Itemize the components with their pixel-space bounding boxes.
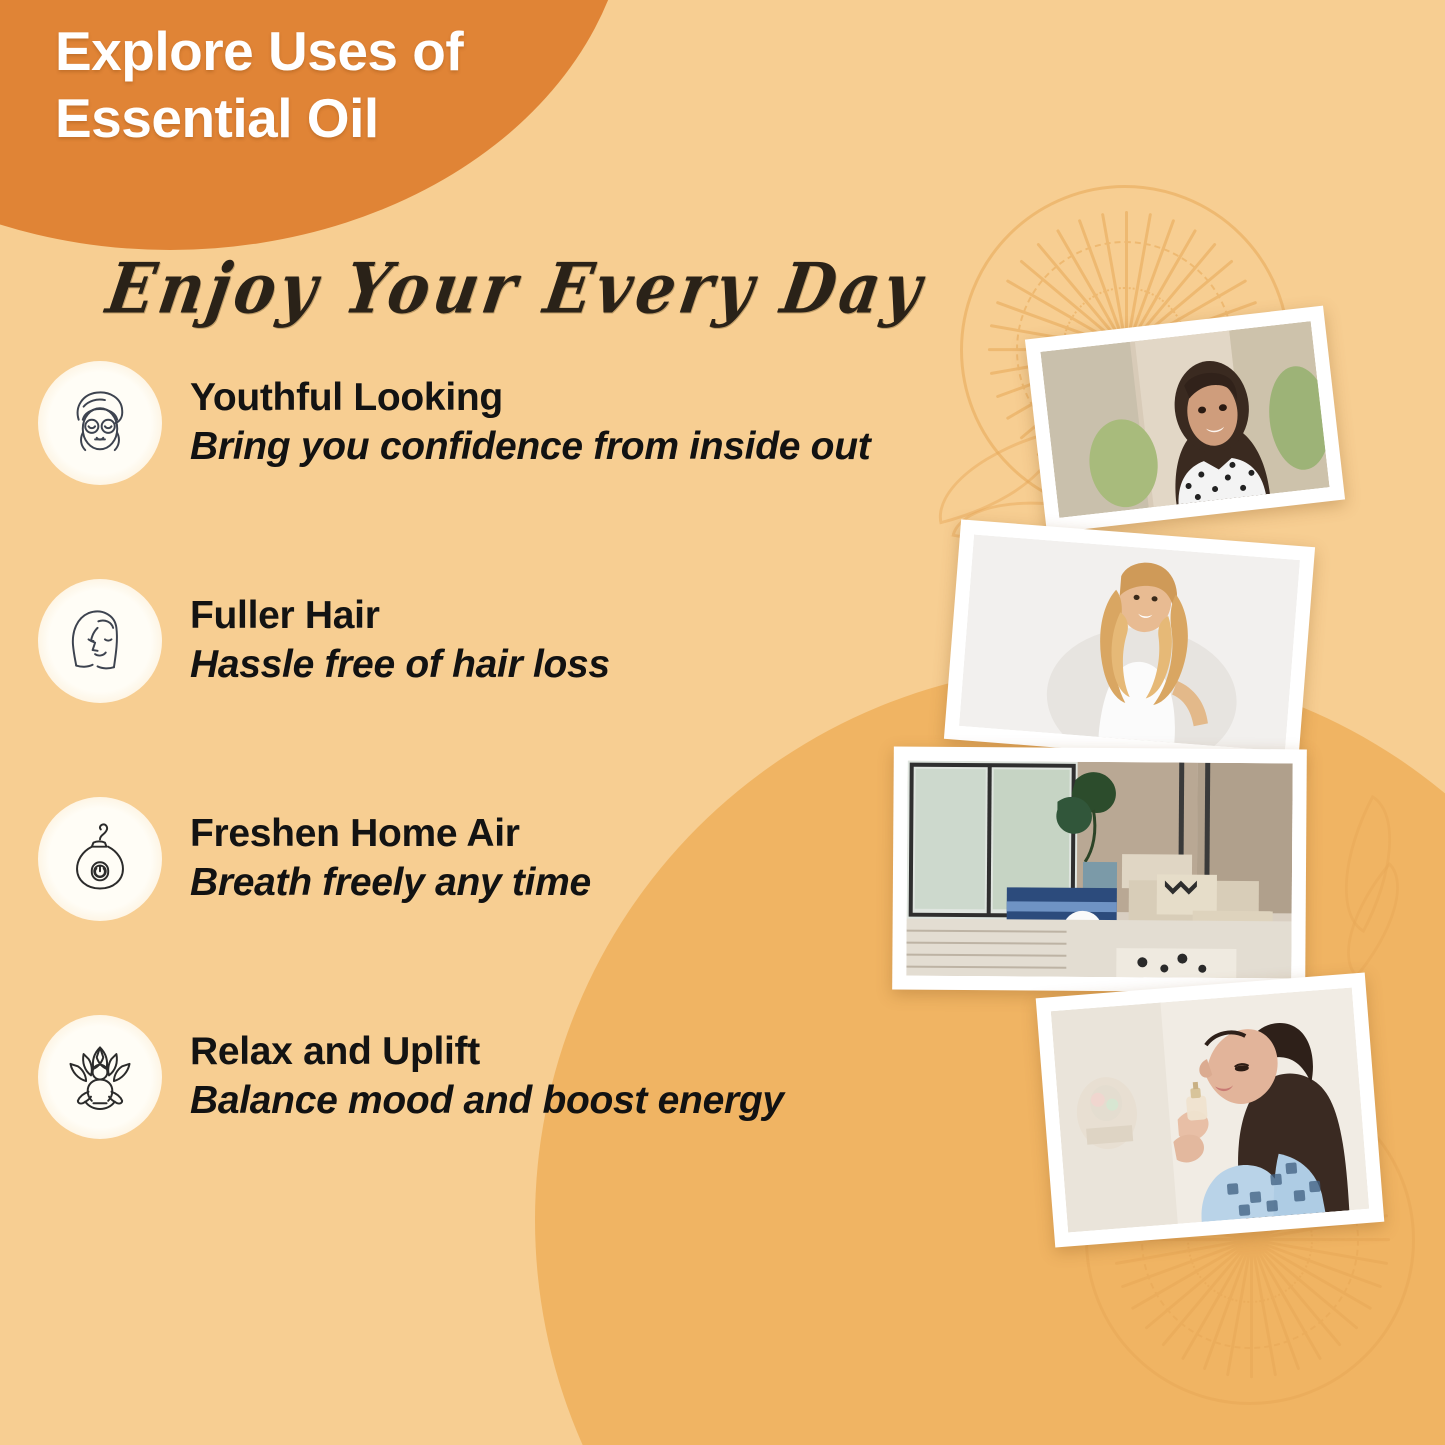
feature-title: Relax and Uplift	[190, 1029, 1040, 1075]
feature-subtitle: Bring you confidence from inside out	[190, 424, 1040, 471]
feature-subtitle: Balance mood and boost energy	[190, 1078, 1040, 1125]
photo-image	[1051, 987, 1369, 1232]
photo-blonde-wavy-hair	[944, 519, 1315, 766]
feature-item-relax-and-uplift: Relax and Uplift Balance mood and boost …	[0, 1014, 1040, 1139]
photo-image	[959, 534, 1300, 751]
long-hair-profile-icon	[38, 579, 162, 703]
feature-item-youthful-looking: Youthful Looking Bring you confidence fr…	[0, 360, 1040, 485]
feature-text: Relax and Uplift Balance mood and boost …	[190, 1029, 1040, 1125]
feature-title: Youthful Looking	[190, 375, 1040, 421]
photo-living-room-interior	[892, 747, 1307, 993]
photo-smiling-woman	[1025, 306, 1345, 534]
photo-image	[906, 761, 1292, 979]
tagline: Enjoy Your Every Day	[102, 248, 931, 330]
photo-woman-spraying-perfume	[1036, 972, 1385, 1247]
feature-list: Youthful Looking Bring you confidence fr…	[0, 360, 1040, 1232]
mandala-spoke	[1250, 1240, 1253, 1379]
feature-text: Youthful Looking Bring you confidence fr…	[190, 375, 1040, 471]
photo-image	[1040, 321, 1329, 518]
lotus-meditation-icon	[38, 1015, 162, 1139]
feature-text: Fuller Hair Hassle free of hair loss	[190, 593, 1040, 689]
feature-item-freshen-home-air: Freshen Home Air Breath freely any time	[0, 796, 1040, 921]
essential-oil-infographic: Explore Uses of Essential Oil Enjoy Your…	[0, 0, 1445, 1445]
feature-subtitle: Hassle free of hair loss	[190, 642, 1040, 689]
oil-diffuser-icon	[38, 797, 162, 921]
page-title: Explore Uses of Essential Oil	[55, 18, 615, 152]
face-mask-icon	[38, 361, 162, 485]
feature-title: Fuller Hair	[190, 593, 1040, 639]
feature-item-fuller-hair: Fuller Hair Hassle free of hair loss	[0, 578, 1040, 703]
